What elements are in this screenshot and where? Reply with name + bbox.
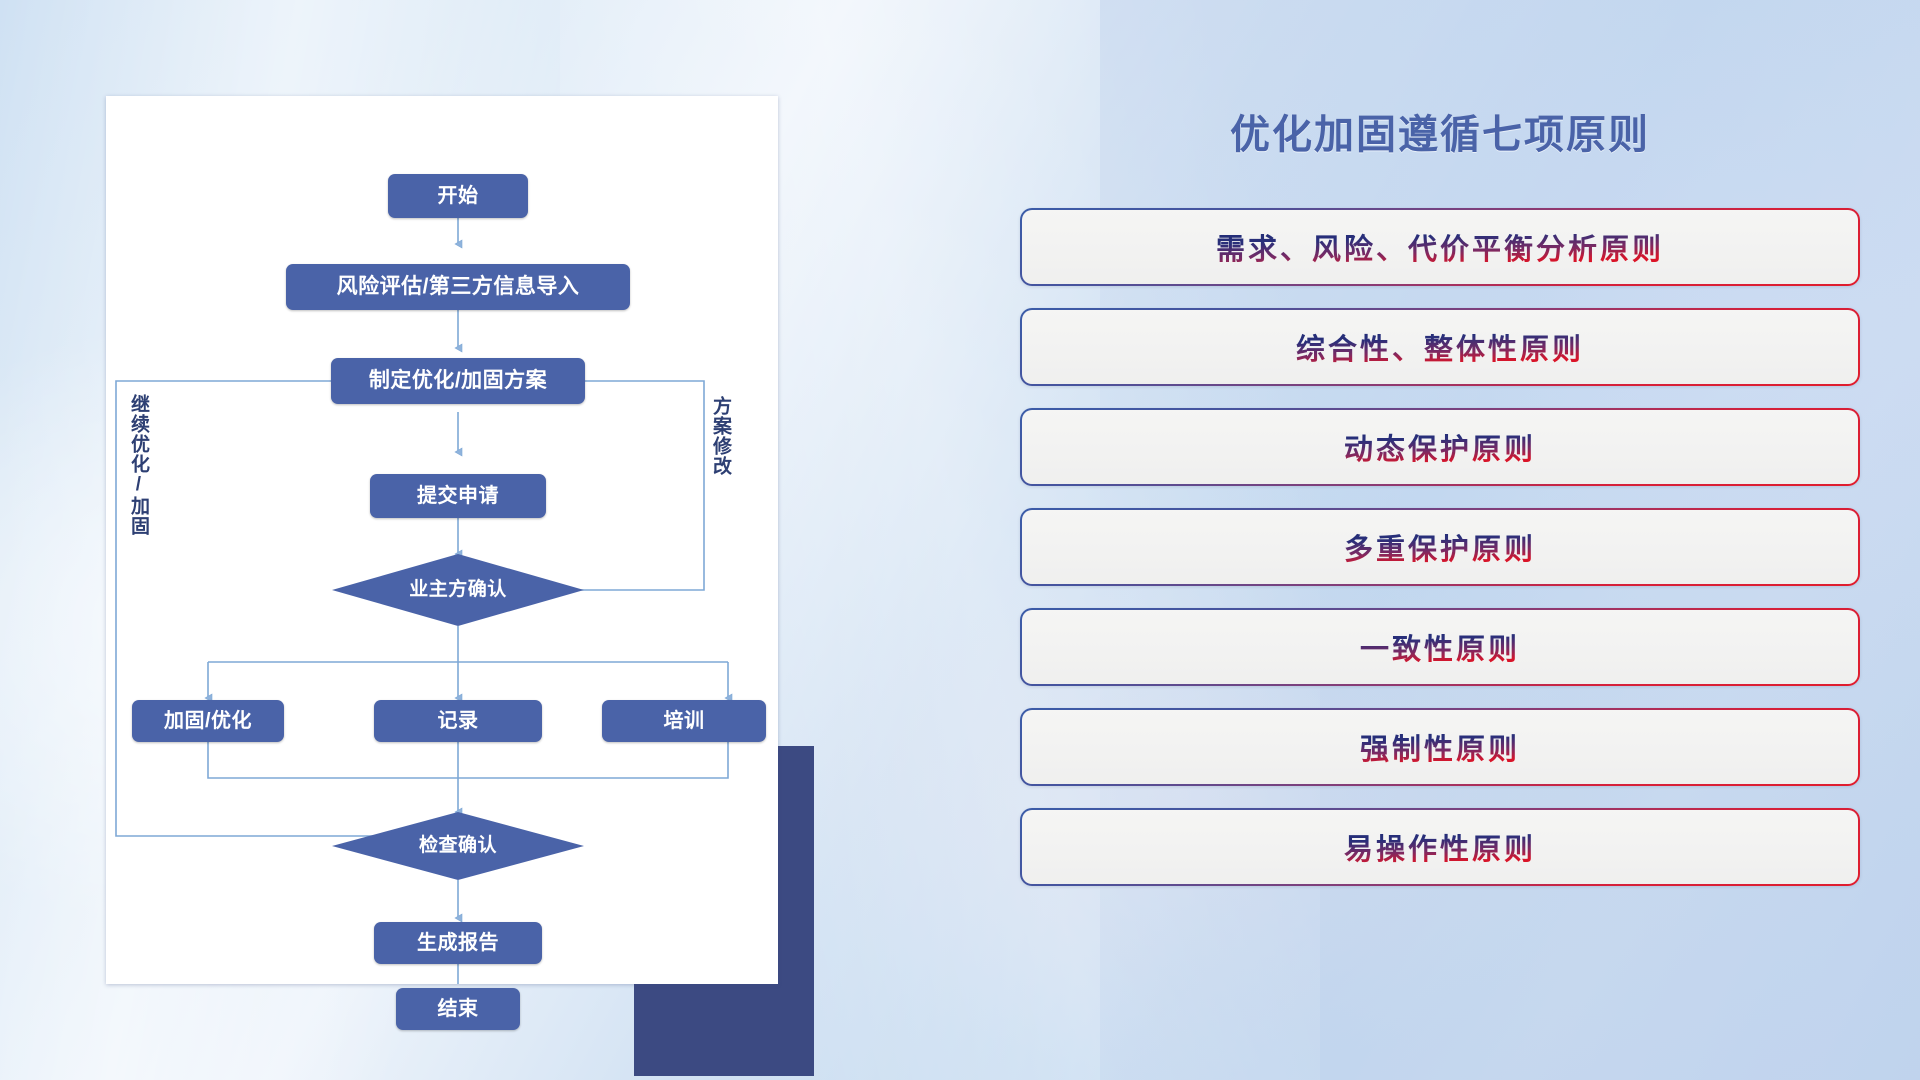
flow-node-report[interactable]: 生成报告 xyxy=(374,922,542,964)
flow-node-start-label: 开始 xyxy=(438,185,479,208)
principle-item[interactable]: 强制性原则 xyxy=(1020,708,1860,786)
flow-node-end-label: 结束 xyxy=(438,998,479,1021)
principle-item-label: 动态保护原则 xyxy=(1344,426,1536,468)
principle-item[interactable]: 需求、风险、代价平衡分析原则 xyxy=(1020,208,1860,286)
flow-node-report-label: 生成报告 xyxy=(417,932,499,955)
flow-node-owner-confirm-label: 业主方确认 xyxy=(409,579,507,601)
flow-node-plan[interactable]: 制定优化/加固方案 xyxy=(331,358,585,404)
flow-node-submit[interactable]: 提交申请 xyxy=(370,474,546,518)
flow-node-reinforce-label: 加固/优化 xyxy=(164,710,252,733)
flow-node-end[interactable]: 结束 xyxy=(396,988,520,1030)
principle-item[interactable]: 综合性、整体性原则 xyxy=(1020,308,1860,386)
flow-node-record[interactable]: 记录 xyxy=(374,700,542,742)
flow-node-check-confirm[interactable]: 检查确认 xyxy=(332,812,584,880)
flow-node-submit-label: 提交申请 xyxy=(417,485,499,508)
flow-node-check-confirm-label: 检查确认 xyxy=(419,835,497,857)
principles-panel: 优化加固遵循七项原则 需求、风险、代价平衡分析原则 综合性、整体性原则 动态保护… xyxy=(1020,60,1860,1020)
principle-item[interactable]: 易操作性原则 xyxy=(1020,808,1860,886)
flowchart-card: 开始 风险评估/第三方信息导入 制定优化/加固方案 提交申请 业主方确认 加固/… xyxy=(106,96,778,984)
principles-title: 优化加固遵循七项原则 xyxy=(1020,102,1860,160)
flow-edge-label-continue-optimize: 继续优化/加固 xyxy=(128,394,148,564)
flow-node-record-label: 记录 xyxy=(438,710,479,733)
principle-item-label: 综合性、整体性原则 xyxy=(1296,326,1584,368)
flow-edge-label-plan-revision: 方案修改 xyxy=(710,396,730,506)
flowchart-panel: 开始 风险评估/第三方信息导入 制定优化/加固方案 提交申请 业主方确认 加固/… xyxy=(106,96,796,996)
principle-item-label: 多重保护原则 xyxy=(1344,526,1536,568)
flow-node-training-label: 培训 xyxy=(664,710,705,733)
principle-item[interactable]: 多重保护原则 xyxy=(1020,508,1860,586)
principle-item[interactable]: 动态保护原则 xyxy=(1020,408,1860,486)
principle-item-label: 一致性原则 xyxy=(1360,626,1520,668)
principle-item-label: 易操作性原则 xyxy=(1344,826,1536,868)
flow-node-plan-label: 制定优化/加固方案 xyxy=(369,369,547,393)
principle-item-label: 强制性原则 xyxy=(1360,726,1520,768)
flow-node-reinforce[interactable]: 加固/优化 xyxy=(132,700,284,742)
flow-node-risk-assessment[interactable]: 风险评估/第三方信息导入 xyxy=(286,264,630,310)
principles-list: 需求、风险、代价平衡分析原则 综合性、整体性原则 动态保护原则 多重保护原则 一… xyxy=(1020,208,1860,886)
principle-item[interactable]: 一致性原则 xyxy=(1020,608,1860,686)
flow-node-training[interactable]: 培训 xyxy=(602,700,766,742)
principle-item-label: 需求、风险、代价平衡分析原则 xyxy=(1216,226,1664,268)
flow-node-start[interactable]: 开始 xyxy=(388,174,528,218)
flow-node-owner-confirm[interactable]: 业主方确认 xyxy=(332,554,584,626)
flow-node-risk-assessment-label: 风险评估/第三方信息导入 xyxy=(337,275,580,299)
